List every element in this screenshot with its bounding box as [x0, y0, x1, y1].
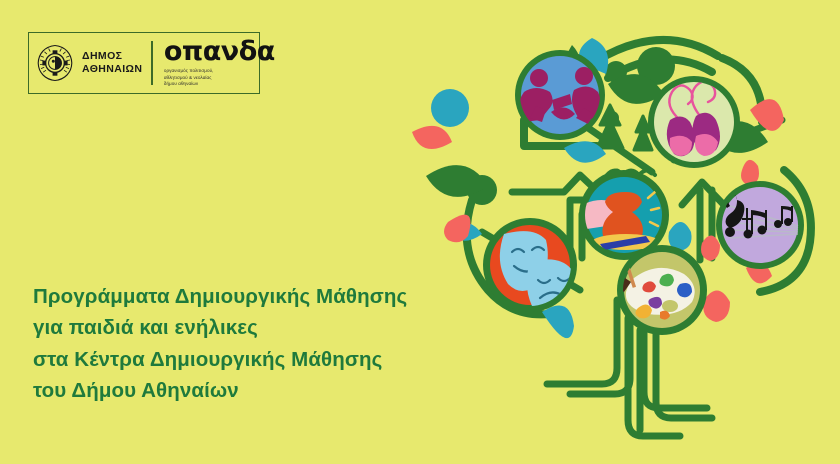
headline-line-3: στα Κέντρα Δημιουργικής Μάθησης [33, 344, 463, 375]
children-playing-icon [515, 50, 605, 140]
headline-line-4: του Δήμου Αθηναίων [33, 375, 463, 406]
creative-learning-tree-illustration [412, 0, 840, 464]
page-title: Προγράμματα Δημιουργικής Μάθησης για παι… [33, 281, 463, 406]
poster-canvas: ΔΗΜΟΣ ΑΘΗΝΑΙΩΝ οπανδα οργανισμός πολιτισ… [0, 0, 840, 464]
opanda-subtitle: οργανισμός πολιτισμού, αθλητισμού & νεολ… [164, 68, 275, 88]
ballet-shoes-icon [648, 76, 740, 168]
opanda-logo: οπανδα οργανισμός πολιτισμού, αθλητισμού… [153, 38, 275, 88]
headline-line-2: για παιδιά και ενήλικες [33, 312, 463, 343]
city-of-athens-label: ΔΗΜΟΣ ΑΘΗΝΑΙΩΝ [82, 50, 142, 76]
logo-lockup: ΔΗΜΟΣ ΑΘΗΝΑΙΩΝ οπανδα οργανισμός πολιτισ… [28, 32, 260, 94]
music-notes-icon [716, 181, 804, 269]
city-of-athens-owl-emblem [35, 43, 75, 83]
headline-line-1: Προγράμματα Δημιουργικής Μάθησης [33, 281, 463, 312]
city-of-athens-logo: ΔΗΜΟΣ ΑΘΗΝΑΙΩΝ [35, 43, 151, 83]
opanda-wordmark: οπανδα [164, 38, 275, 65]
paint-palette-icon [617, 245, 707, 335]
